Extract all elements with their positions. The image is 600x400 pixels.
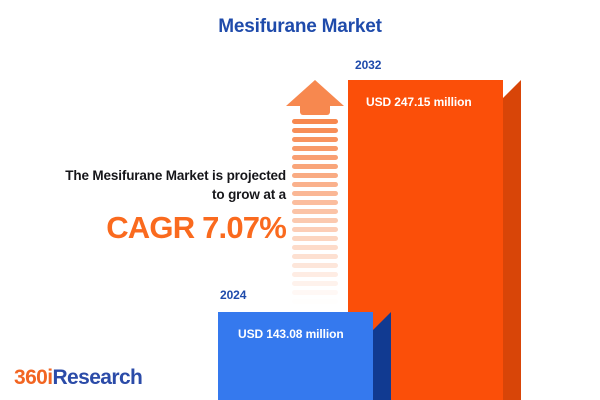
- arrow-stripe: [292, 146, 338, 151]
- arrow-stripe: [292, 137, 338, 142]
- infographic-canvas: Mesifurane Market The Mesifurane Market …: [0, 0, 600, 400]
- statement-line-1: The Mesifurane Market is projected: [18, 166, 286, 185]
- arrow-stripe: [292, 263, 338, 268]
- arrow-stripe: [292, 227, 338, 232]
- arrow-stripe: [292, 200, 338, 205]
- arrow-stripe: [292, 209, 338, 214]
- arrow-stripes-group: [292, 119, 338, 317]
- arrow-stripe: [292, 299, 338, 304]
- statement-block: The Mesifurane Market is projected to gr…: [18, 166, 286, 245]
- arrow-triangle-icon: [286, 80, 344, 106]
- arrow-stripe: [292, 119, 338, 124]
- bar-label-year-2024: 2024: [220, 288, 246, 302]
- brand-logo[interactable]: 360iResearch: [14, 366, 142, 390]
- arrow-stripe: [292, 128, 338, 133]
- arrow-stripe: [292, 272, 338, 277]
- page-title: Mesifurane Market: [0, 16, 600, 38]
- bar-2032-side: [503, 80, 521, 400]
- growth-arrow-icon: [286, 80, 344, 292]
- bar-2024[interactable]: [218, 312, 373, 400]
- cagr-value: CAGR 7.07%: [18, 211, 286, 245]
- logo-mark: 360i: [14, 366, 52, 389]
- arrow-stripe: [292, 254, 338, 259]
- arrow-head-icon: [286, 80, 344, 106]
- arrow-stripe: [292, 164, 338, 169]
- arrow-stripe: [292, 191, 338, 196]
- arrow-stripe: [292, 290, 338, 295]
- arrow-stripe: [292, 281, 338, 286]
- logo-word: Research: [52, 366, 142, 389]
- arrow-stripe: [292, 218, 338, 223]
- arrow-stripe: [292, 173, 338, 178]
- arrow-stripe: [292, 155, 338, 160]
- bar-label-year-2032: 2032: [355, 58, 381, 72]
- bar-2024-front: [218, 312, 373, 400]
- statement-line-2: to grow at a: [18, 185, 286, 204]
- arrow-neck-icon: [300, 105, 330, 115]
- arrow-stripe: [292, 245, 338, 250]
- arrow-stripe: [292, 182, 338, 187]
- bar-value-2032: USD 247.15 million: [366, 95, 472, 109]
- arrow-stripe: [292, 236, 338, 241]
- bar-value-2024: USD 143.08 million: [238, 327, 344, 341]
